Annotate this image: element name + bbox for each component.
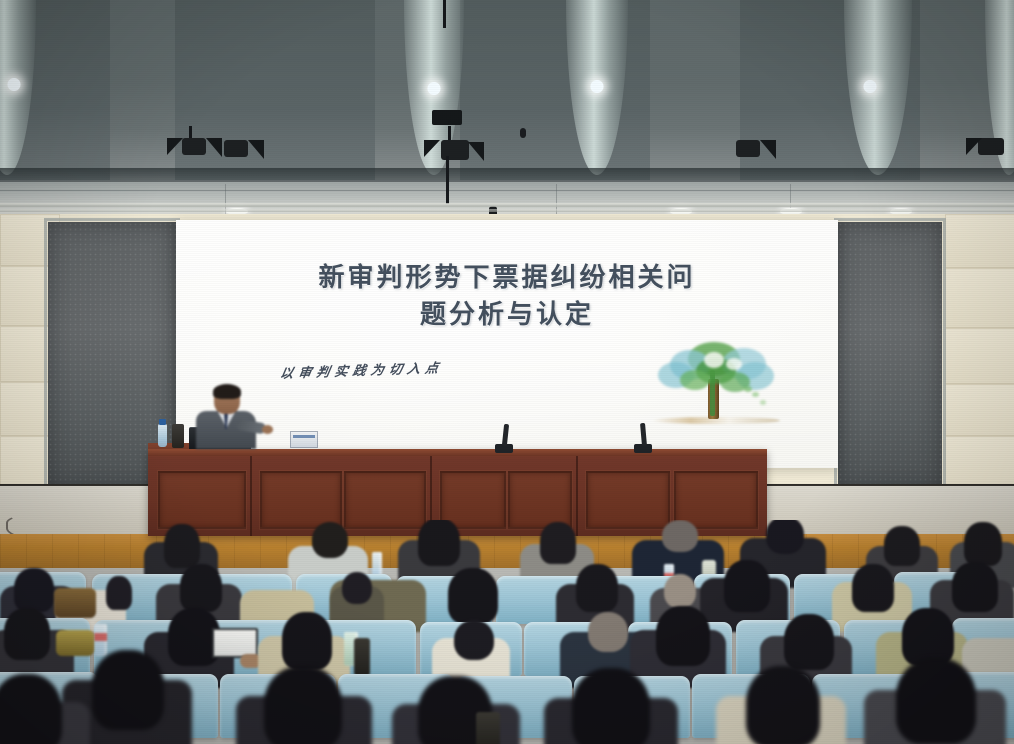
attendee-hair: [852, 564, 894, 612]
slide-subtitle: 以审判实践为切入点: [279, 357, 445, 382]
attendee-head: [588, 612, 628, 652]
attendee-hair: [896, 658, 976, 744]
attendee-hair: [952, 562, 998, 612]
attendee-hair: [92, 650, 164, 730]
attendee-hair: [164, 524, 200, 568]
attendee-hair: [448, 568, 498, 624]
ceiling-light: [428, 82, 441, 95]
attendee-hair: [418, 520, 460, 566]
attendee-hair: [0, 674, 62, 744]
ceiling-hanger-rod: [443, 0, 446, 28]
attendee-hair: [964, 522, 1002, 566]
lecture-hall-photo: 新审判形势下票据纠纷相关问 题分析与认定 以审判实践为切入点: [0, 0, 1014, 744]
attendee-hair: [724, 560, 770, 612]
thermos-cup: [172, 424, 184, 448]
speaker-figure: [196, 385, 256, 449]
attendee-hair: [576, 564, 618, 612]
attendee-hair: [106, 576, 132, 610]
attendee-hair: [14, 568, 54, 612]
water-bottle: [94, 624, 107, 656]
bottle-cap: [159, 419, 166, 425]
ceiling: [0, 0, 1014, 185]
attendee-head: [342, 572, 372, 604]
slide-title: 新审判形势下票据纠纷相关问 题分析与认定: [176, 260, 838, 334]
attendee-head: [312, 522, 348, 558]
handbag: [54, 588, 96, 618]
ceiling-light: [863, 80, 876, 93]
attendee-hair: [572, 668, 650, 744]
thermos: [354, 638, 370, 676]
thermos: [476, 712, 500, 744]
attendee-hair: [264, 666, 342, 744]
attendee-hair: [656, 606, 710, 666]
attendee-head: [662, 520, 698, 552]
acoustic-panel-right: [838, 222, 942, 490]
attendee-hair: [180, 564, 222, 612]
projector: [432, 110, 462, 125]
spotlight-cable: [446, 156, 449, 204]
attendee-head: [454, 620, 494, 660]
watercolor-tree-icon: [644, 340, 784, 430]
attendee-hair: [784, 614, 834, 670]
camera: [520, 128, 526, 138]
attendee-head: [664, 574, 696, 608]
slide-title-line-1: 新审判形势下票据纠纷相关问: [318, 263, 695, 293]
ceiling-light: [7, 78, 20, 91]
water-bottle: [158, 424, 167, 447]
attendee-hair: [746, 666, 820, 744]
attendee-head: [766, 520, 804, 554]
attendee-hair: [884, 526, 920, 566]
ceiling-light: [591, 80, 604, 93]
nameplate: [290, 431, 318, 448]
attendee-hair: [282, 612, 332, 670]
slide-title-line-2: 题分析与认定: [176, 297, 838, 334]
handbag: [56, 630, 94, 656]
audience: [0, 520, 1014, 744]
attendee-hair: [4, 608, 50, 660]
ceiling-soffit: [0, 182, 1014, 218]
attendee-hair: [540, 522, 576, 564]
